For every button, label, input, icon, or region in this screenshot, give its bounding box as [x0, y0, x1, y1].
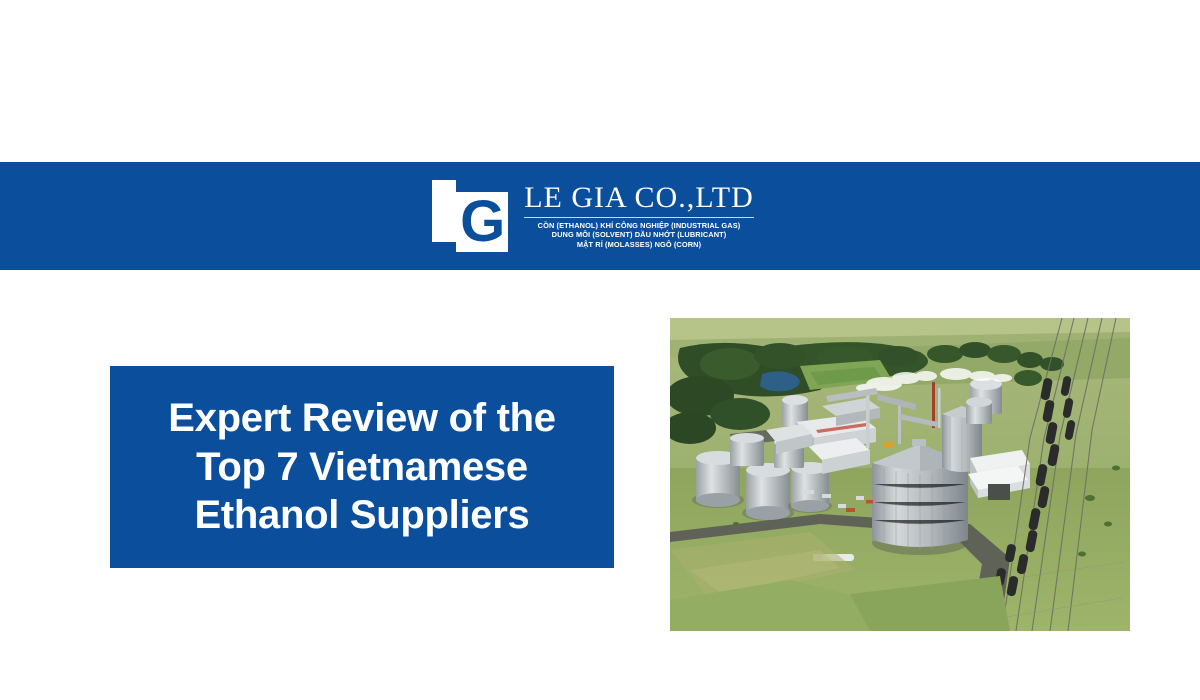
ethanol-plant-illustration	[670, 318, 1130, 631]
wordmark-divider	[524, 217, 754, 218]
tagline-line-1: CỒN (ETHANOL) KHÍ CÔNG NGHIỆP (INDUSTRIA…	[538, 221, 741, 231]
company-name: LE GIA CO.,LTD	[524, 182, 754, 214]
logo-letter-l-shape	[432, 180, 456, 242]
tagline-line-3: MẬT RỈ (MOLASSES) NGÔ (CORN)	[538, 240, 741, 250]
tagline-line-2: DUNG MÔI (SOLVENT) DẦU NHỚT (LUBRICANT)	[538, 230, 741, 240]
brand-lockup: G LE GIA CO.,LTD CỒN (ETHANOL) KHÍ CÔNG …	[430, 178, 754, 254]
ethanol-plant-photo	[670, 318, 1130, 631]
logo-letter-g: G	[456, 192, 508, 252]
header-banner: G LE GIA CO.,LTD CỒN (ETHANOL) KHÍ CÔNG …	[0, 162, 1200, 270]
title-card: Expert Review of the Top 7 Vietnamese Et…	[110, 366, 614, 568]
logo-wordmark: LE GIA CO.,LTD CỒN (ETHANOL) KHÍ CÔNG NG…	[524, 182, 754, 250]
company-tagline: CỒN (ETHANOL) KHÍ CÔNG NGHIỆP (INDUSTRIA…	[538, 221, 741, 250]
le-gia-logo-icon: G	[430, 178, 510, 254]
page-title: Expert Review of the Top 7 Vietnamese Et…	[134, 394, 590, 540]
